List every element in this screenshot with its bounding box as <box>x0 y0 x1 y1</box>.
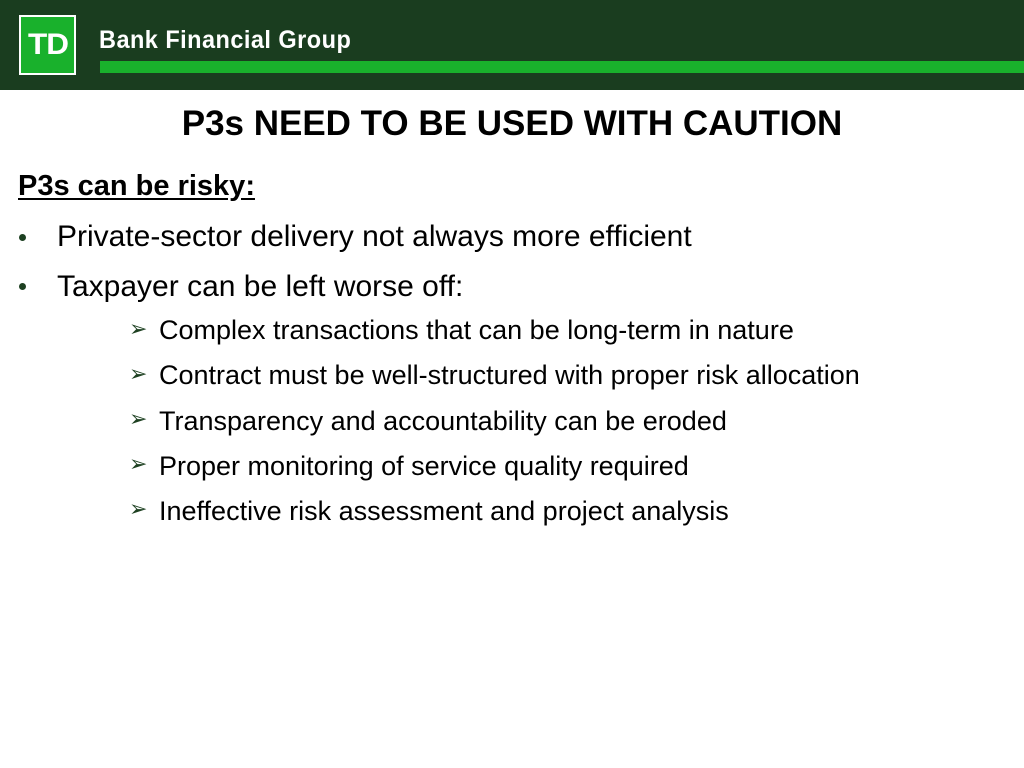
slide-content: P3s can be risky: Private-sector deliver… <box>0 170 1024 539</box>
arrow-bullet-icon: ➢ <box>129 403 147 437</box>
sub-list-item-label: Proper monitoring of service quality req… <box>159 448 989 484</box>
list-item-label: Private-sector delivery not always more … <box>57 220 692 253</box>
slide-header-band: TD Bank Financial Group <box>0 0 1024 90</box>
bullet-list-level2: ➢ Complex transactions that can be long-… <box>57 312 1024 529</box>
arrow-bullet-icon: ➢ <box>129 358 147 392</box>
sub-list-item: ➢ Ineffective risk assessment and projec… <box>57 493 1024 529</box>
bullet-dot-icon <box>19 234 26 241</box>
subheading: P3s can be risky: <box>18 170 255 203</box>
list-item: Taxpayer can be left worse off: ➢ Comple… <box>0 267 1024 529</box>
sub-list-item-label: Complex transactions that can be long-te… <box>159 312 989 348</box>
arrow-bullet-icon: ➢ <box>129 313 147 347</box>
list-item-label: Taxpayer can be left worse off: <box>57 270 463 303</box>
bullet-dot-icon <box>19 283 26 290</box>
sub-list-item-label: Transparency and accountability can be e… <box>159 403 989 439</box>
arrow-bullet-icon: ➢ <box>129 493 147 527</box>
page-title: P3s NEED TO BE USED WITH CAUTION <box>0 104 1024 144</box>
td-logo-text: TD <box>28 30 68 60</box>
header-accent-bar <box>100 61 1024 73</box>
brand-name: Bank Financial Group <box>99 26 351 55</box>
subheading-wrapper: P3s can be risky: <box>0 170 1024 217</box>
arrow-bullet-icon: ➢ <box>129 448 147 482</box>
sub-list-item: ➢ Complex transactions that can be long-… <box>57 312 1024 348</box>
td-logo-icon: TD <box>19 15 76 75</box>
sub-list-item: ➢ Contract must be well-structured with … <box>57 357 1024 393</box>
sub-list-item-label: Contract must be well-structured with pr… <box>159 357 989 393</box>
sub-list-item: ➢ Proper monitoring of service quality r… <box>57 448 1024 484</box>
list-item: Private-sector delivery not always more … <box>0 217 1024 257</box>
bullet-list-level1: Private-sector delivery not always more … <box>0 217 1024 529</box>
sub-list-item-label: Ineffective risk assessment and project … <box>159 493 989 529</box>
sub-list-item: ➢ Transparency and accountability can be… <box>57 403 1024 439</box>
